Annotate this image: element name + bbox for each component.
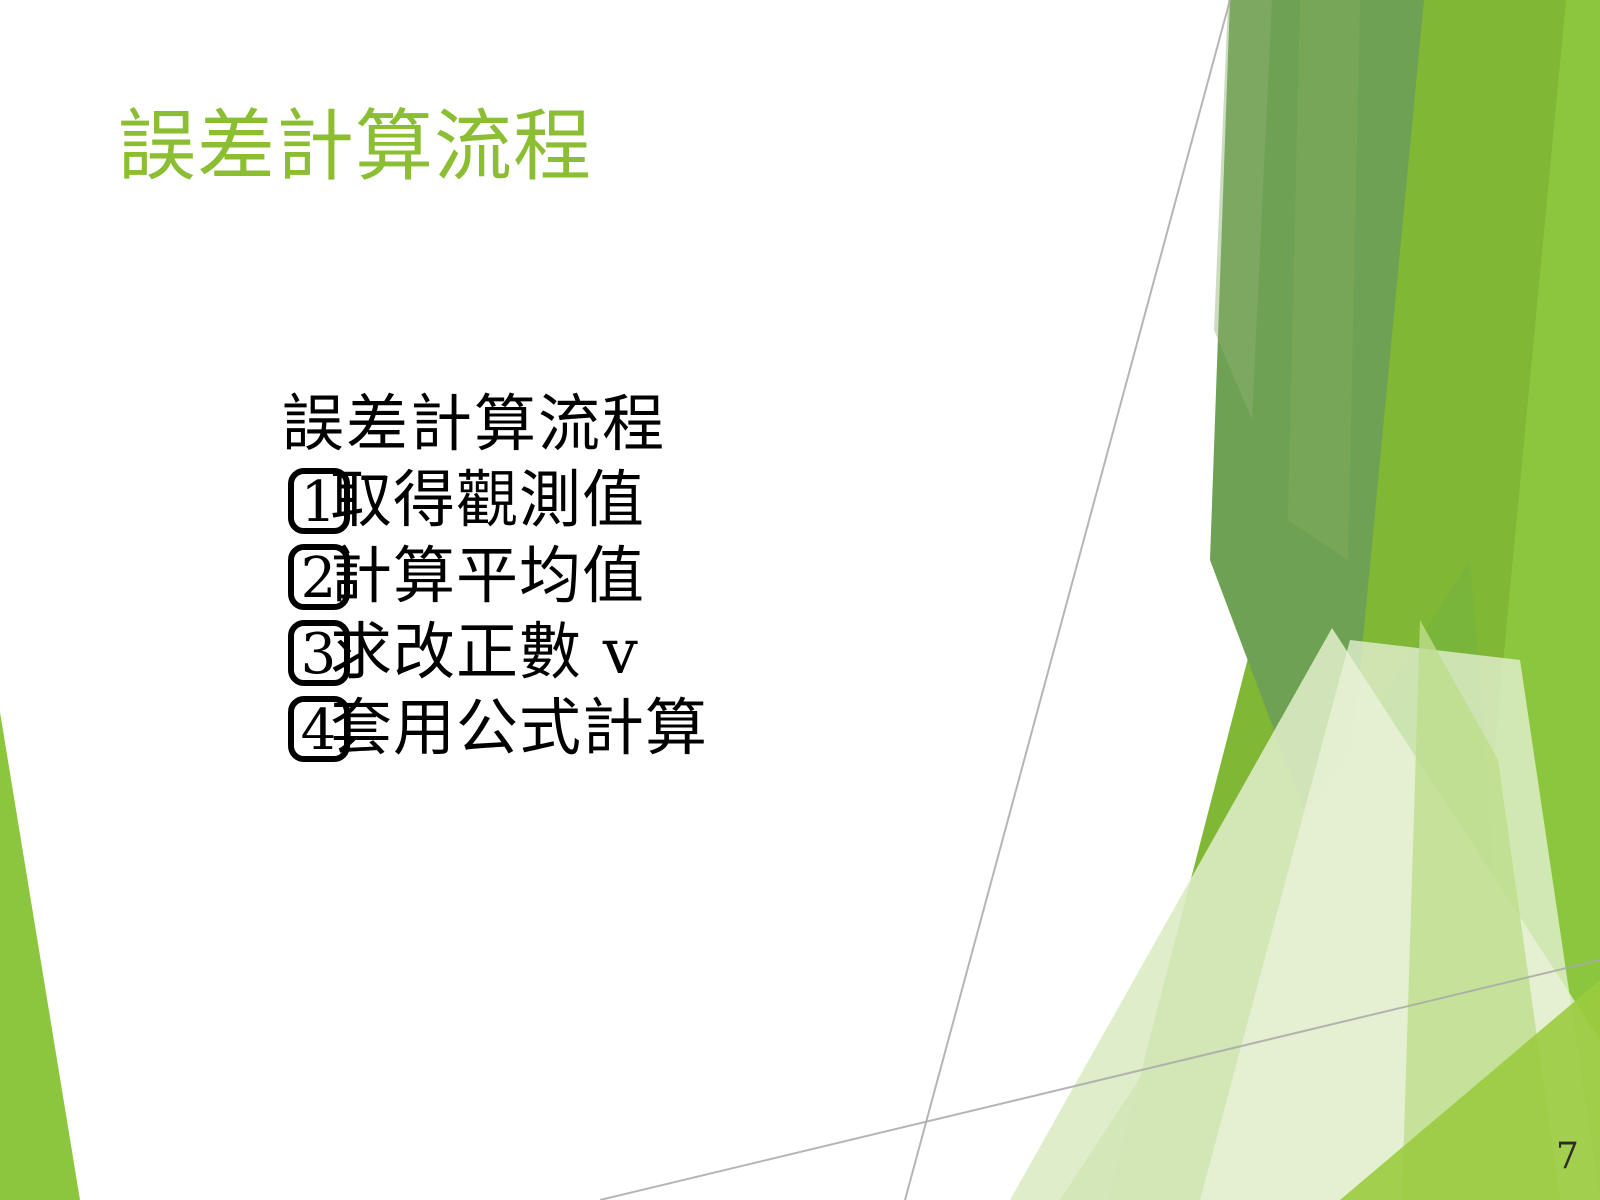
list-item: 2 計算平均值 (282, 538, 982, 614)
content-heading: 誤差計算流程 (282, 386, 982, 462)
decor-shape-light-sliver (1402, 620, 1560, 1200)
decor-shape-mid-green (1108, 0, 1566, 1200)
list-item-label-3: 求改正數 v (330, 614, 639, 690)
decor-shape-dark-green (1210, 0, 1424, 900)
decor-shape-light-band (1288, 0, 1360, 560)
number-badge-1: 1 (288, 468, 350, 534)
decor-shape-left-triangle (0, 712, 80, 1200)
slide-canvas: 誤差計算流程 誤差計算流程 1 取得觀測值 2 計算平均值 3 求改正數 v 4… (0, 0, 1600, 1200)
slide-title: 誤差計算流程 (118, 104, 1118, 191)
decor-shape-verypale-wedge (1200, 640, 1600, 1200)
decor-shape-pale-triangle (1010, 628, 1600, 1200)
list-item-label-4: 套用公式計算 (330, 690, 708, 766)
number-badge-2: 2 (288, 544, 350, 610)
number-badge-4: 4 (288, 696, 350, 762)
list-item-label-1: 取得觀測值 (330, 462, 645, 538)
list-item-label-2: 計算平均值 (330, 538, 645, 614)
decor-shape-pale-top (1214, 0, 1272, 420)
slide-number: 7 (1556, 1136, 1579, 1177)
list-item: 3 求改正數 v (282, 614, 982, 690)
decor-shape-dark-green-lower (1290, 640, 1452, 1200)
content-text-box[interactable]: 誤差計算流程 1 取得觀測值 2 計算平均值 3 求改正數 v 4 套用公式計算 (282, 386, 982, 766)
number-badge-3: 3 (288, 620, 350, 686)
list-item: 4 套用公式計算 (282, 690, 982, 766)
list-item: 1 取得觀測值 (282, 462, 982, 538)
decor-shape-midgreen-lower (1060, 560, 1520, 1200)
decor-hairline-shallow (600, 960, 1600, 1200)
decor-shape-bright-right (1412, 0, 1600, 1200)
